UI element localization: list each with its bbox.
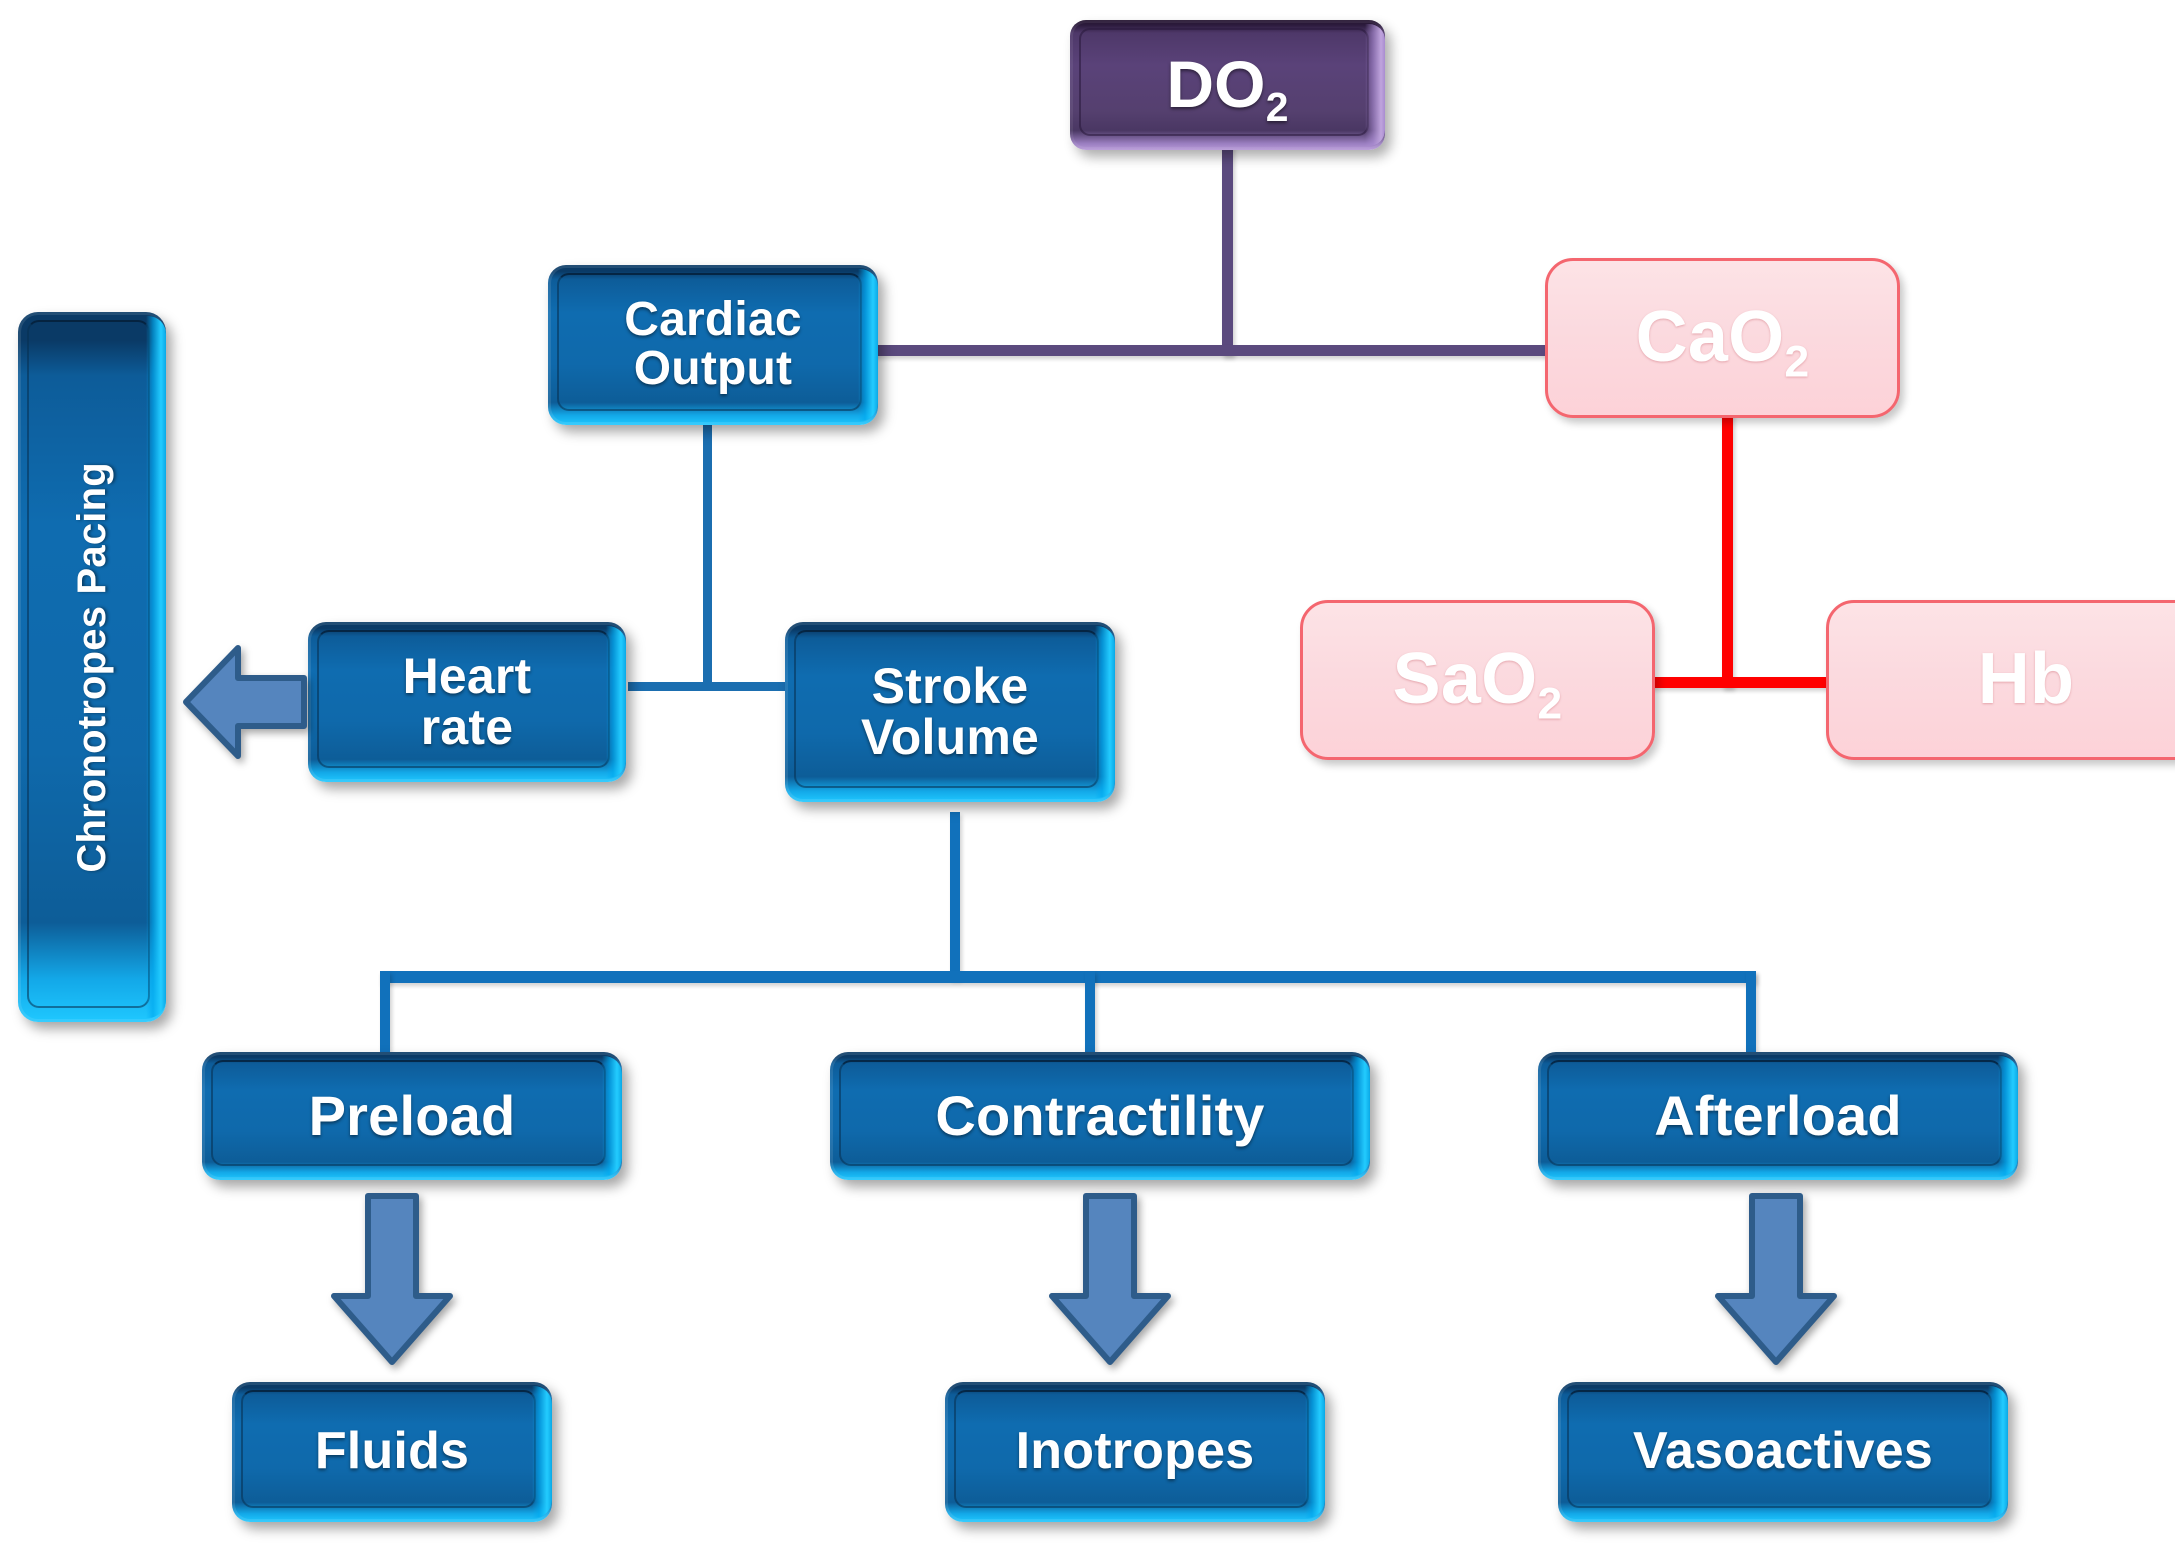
node-inotropes[interactable]: Inotropes xyxy=(945,1382,1325,1522)
node-afterload-label: Afterload xyxy=(1654,1087,1902,1144)
node-fluids-label: Fluids xyxy=(315,1425,469,1478)
node-afterload[interactable]: Afterload xyxy=(1538,1052,2018,1180)
connector-drop-afterload xyxy=(1746,971,1756,1059)
connector-sv-bus xyxy=(380,971,1756,983)
node-chronotropes-pacing-label: Chronotropes Pacing xyxy=(72,462,113,873)
node-cao2-label: CaO2 xyxy=(1636,301,1810,374)
node-contractility-label: Contractility xyxy=(935,1087,1264,1144)
node-fluids[interactable]: Fluids xyxy=(232,1382,552,1522)
node-do2[interactable]: DO2 xyxy=(1070,20,1385,150)
node-stroke-volume-line2: Volume xyxy=(861,712,1039,763)
node-vasoactives-label: Vasoactives xyxy=(1633,1425,1933,1478)
node-heart-rate-line1: Heart xyxy=(403,651,532,702)
node-preload[interactable]: Preload xyxy=(202,1052,622,1180)
node-hb-label: Hb xyxy=(1978,643,2074,716)
node-preload-label: Preload xyxy=(309,1087,516,1144)
arrow-down-inotropes xyxy=(1046,1192,1174,1368)
connector-sv-stem xyxy=(950,812,960,979)
node-vasoactives[interactable]: Vasoactives xyxy=(1558,1382,2008,1522)
node-hb[interactable]: Hb xyxy=(1826,600,2175,760)
node-heart-rate[interactable]: Heart rate xyxy=(308,622,626,782)
connector-drop-preload xyxy=(380,971,390,1059)
connector-do2-stem xyxy=(1222,142,1233,356)
node-sao2[interactable]: SaO2 xyxy=(1300,600,1655,760)
node-cardiac-output[interactable]: Cardiac Output xyxy=(548,265,878,425)
arrow-down-fluids xyxy=(328,1192,456,1368)
flowchart-canvas: DO2 Cardiac Output CaO2 SaO2 Hb Chronotr… xyxy=(0,0,2175,1566)
node-stroke-volume[interactable]: Stroke Volume xyxy=(785,622,1115,802)
node-heart-rate-line2: rate xyxy=(421,702,514,753)
node-inotropes-label: Inotropes xyxy=(1016,1425,1255,1478)
node-contractility[interactable]: Contractility xyxy=(830,1052,1370,1180)
node-cardiac-output-line2: Output xyxy=(634,345,792,394)
connector-do2-bus xyxy=(862,345,1562,356)
connector-drop-contractility xyxy=(1085,971,1095,1059)
arrow-left-chronotropes xyxy=(182,638,308,766)
node-cardiac-output-line1: Cardiac xyxy=(624,296,802,345)
node-cao2[interactable]: CaO2 xyxy=(1545,258,1900,418)
node-sao2-label: SaO2 xyxy=(1393,643,1563,716)
arrow-down-vasoactives xyxy=(1712,1192,1840,1368)
node-do2-label: DO2 xyxy=(1166,51,1288,118)
node-chronotropes-pacing[interactable]: Chronotropes Pacing xyxy=(18,312,166,1022)
connector-co-bus xyxy=(628,682,794,691)
node-stroke-volume-line1: Stroke xyxy=(872,661,1029,712)
connector-cao2-bus xyxy=(1648,677,1833,688)
